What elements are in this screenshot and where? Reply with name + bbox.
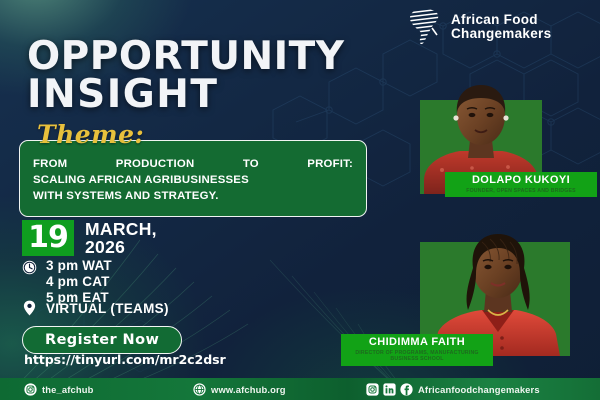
brand-logo: African Food Changemakers: [404, 8, 551, 46]
date-day-chip: 19: [22, 220, 74, 256]
speaker-nameplate-2: CHIDIMMA FAITH DIRECTOR OF PROGRAMS, MAN…: [341, 334, 493, 366]
event-times: 3 pm WAT 4 pm CAT 5 pm EAT: [22, 258, 112, 306]
speaker-1-name: DOLAPO KUKOYI: [452, 174, 590, 187]
instagram-icon[interactable]: [366, 383, 379, 396]
facebook-icon[interactable]: [400, 383, 413, 396]
logo-line-2: Changemakers: [451, 27, 551, 41]
theme-word-2: PRODUCTION: [116, 156, 195, 172]
theme-line-1: FROM PRODUCTION TO PROFIT:: [33, 156, 353, 172]
speaker-1-role: FOUNDER, OPEN SPACES AND BRIDGES: [452, 188, 590, 195]
speaker-2-role: DIRECTOR OF PROGRAMS, MANUFACTURING BUSI…: [348, 350, 486, 364]
register-button[interactable]: Register Now: [22, 326, 182, 354]
footer-website-url: www.afchub.org: [211, 384, 286, 395]
clock-icon: [22, 260, 37, 275]
logo-wordmark: African Food Changemakers: [451, 13, 551, 41]
time-cat: 4 pm CAT: [46, 274, 112, 290]
linkedin-icon[interactable]: [383, 383, 396, 396]
theme-line-3: WITH SYSTEMS AND STRATEGY.: [33, 188, 353, 204]
date-month: MARCH,: [85, 220, 157, 238]
page-title: OPPORTUNITY INSIGHT: [27, 38, 345, 114]
globe-icon: [193, 383, 206, 396]
theme-line-2: SCALING AFRICAN AGRIBUSINESSES: [33, 172, 353, 188]
speaker-2-name: CHIDIMMA FAITH: [348, 336, 486, 349]
title-line-2: INSIGHT: [27, 76, 345, 114]
footer-instagram-handle: the_afchub: [42, 384, 94, 395]
title-line-1: OPPORTUNITY: [27, 38, 345, 76]
time-wat: 3 pm WAT: [46, 258, 112, 274]
theme-label: Theme:: [37, 120, 144, 149]
location-label: VIRTUAL (TEAMS): [46, 301, 169, 316]
theme-word-3: TO: [243, 156, 259, 172]
footer-socials: Africanfoodchangemakers: [366, 383, 540, 396]
footer-website[interactable]: www.afchub.org: [193, 383, 286, 396]
footer-social-icon-group: [366, 383, 413, 396]
theme-word-4: PROFIT:: [307, 156, 353, 172]
theme-text: FROM PRODUCTION TO PROFIT: SCALING AFRIC…: [33, 156, 353, 205]
event-location: VIRTUAL (TEAMS): [22, 300, 169, 316]
footer-instagram[interactable]: the_afchub: [24, 383, 94, 396]
theme-box: FROM PRODUCTION TO PROFIT: SCALING AFRIC…: [19, 140, 367, 217]
instagram-icon: [24, 383, 37, 396]
logo-line-1: African Food: [451, 13, 551, 27]
date-month-year: MARCH, 2026: [85, 220, 157, 257]
flyer-canvas: African Food Changemakers OPPORTUNITY IN…: [0, 0, 600, 400]
footer-bar: the_afchub www.afchub.org: [0, 378, 600, 400]
date-day-number: 19: [28, 223, 68, 253]
footer-social-handle: Africanfoodchangemakers: [418, 384, 540, 395]
date-year: 2026: [85, 238, 157, 256]
africa-continent-striped-icon: [404, 8, 446, 46]
map-pin-icon: [22, 300, 37, 316]
event-date: 19 MARCH, 2026: [22, 220, 157, 257]
theme-word-1: FROM: [33, 156, 67, 172]
speaker-nameplate-1: DOLAPO KUKOYI FOUNDER, OPEN SPACES AND B…: [445, 172, 597, 197]
registration-url[interactable]: https://tinyurl.com/mr2c2dsr: [24, 352, 226, 367]
times-list: 3 pm WAT 4 pm CAT 5 pm EAT: [46, 258, 112, 306]
theme-section: Theme: FROM PRODUCTION TO PROFIT: SCALIN…: [19, 140, 367, 217]
